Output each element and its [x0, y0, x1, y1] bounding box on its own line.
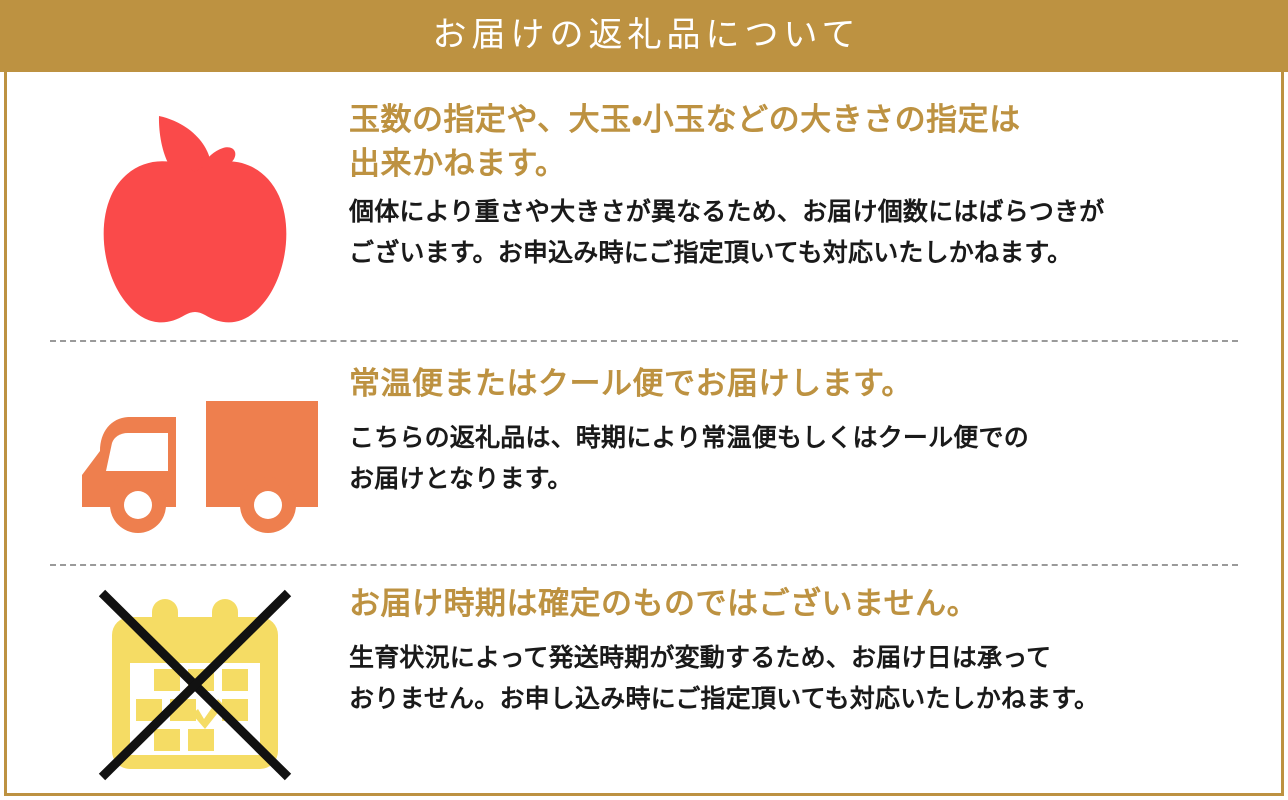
header-banner: お届けの返礼品について [0, 0, 1288, 72]
notice-section-delivery-method: 常温便またはクール便でお届けします。 こちらの返礼品は、時期により常温便もしくは… [40, 342, 1248, 564]
page-title: お届けの返礼品について [428, 19, 861, 53]
notice-section-size-specification: 玉数の指定や、大玉・小玉などの大きさの指定は 出来かねます。 個体により重さや大… [40, 72, 1248, 340]
notice-section-delivery-date: お届け時期は確定のものではございません。 生育状況によって発送時期が変動するため… [40, 566, 1248, 791]
apple-icon [95, 102, 295, 332]
section-1-heading-line-1: 玉数の指定や、大玉・小玉などの大きさの指定は [349, 102, 1021, 137]
section-1-heading-line-2: 出来かねます。 [349, 146, 566, 181]
section-1-body-line-1: 個体により重さや大きさが異なるため、お届け個数にはばらつきが [349, 198, 1105, 226]
section-2-body: こちらの返礼品は、時期により常温便もしくはクール便での お届けとなります。 [349, 418, 1248, 499]
section-3-text: お届け時期は確定のものではございません。 生育状況によって発送時期が変動するため… [349, 578, 1248, 719]
section-1-body: 個体により重さや大きさが異なるため、お届け個数にはばらつきが ございます。お申込… [349, 192, 1248, 273]
section-2-body-line-2: お届けとなります。 [349, 465, 573, 493]
section-2-body-line-1: こちらの返礼品は、時期により常温便もしくはクール便での [349, 424, 1029, 452]
notice-page: お届けの返礼品について 玉数の指定や、大玉・小玉などの大きさの指定は 出来かねま… [0, 0, 1288, 800]
section-2-text: 常温便またはクール便でお届けします。 こちらの返礼品は、時期により常温便もしくは… [349, 358, 1248, 499]
delivery-truck-icon [72, 387, 318, 535]
section-3-body-line-1: 生育状況によって発送時期が変動するため、お届け日は承って [349, 644, 1051, 672]
section-3-heading: お届け時期は確定のものではございません。 [349, 582, 1248, 626]
truck-icon-container [40, 358, 349, 564]
section-3-body: 生育状況によって発送時期が変動するため、お届け日は承って おりません。お申し込み… [349, 638, 1248, 719]
calendar-icon-container [40, 578, 349, 791]
section-2-heading: 常温便またはクール便でお届けします。 [349, 362, 1248, 406]
apple-icon-container [40, 94, 349, 340]
section-1-heading: 玉数の指定や、大玉・小玉などの大きさの指定は 出来かねます。 [349, 98, 1248, 186]
notice-sections-container: 玉数の指定や、大玉・小玉などの大きさの指定は 出来かねます。 個体により重さや大… [7, 72, 1281, 787]
section-1-body-line-2: ございます。お申込み時にご指定頂いても対応いたしかねます。 [349, 239, 1072, 267]
section-3-body-line-2: おりません。お申し込み時にご指定頂いても対応いたしかねます。 [349, 685, 1099, 713]
section-1-text: 玉数の指定や、大玉・小玉などの大きさの指定は 出来かねます。 個体により重さや大… [349, 94, 1248, 273]
calendar-crossed-out-icon [88, 587, 302, 783]
